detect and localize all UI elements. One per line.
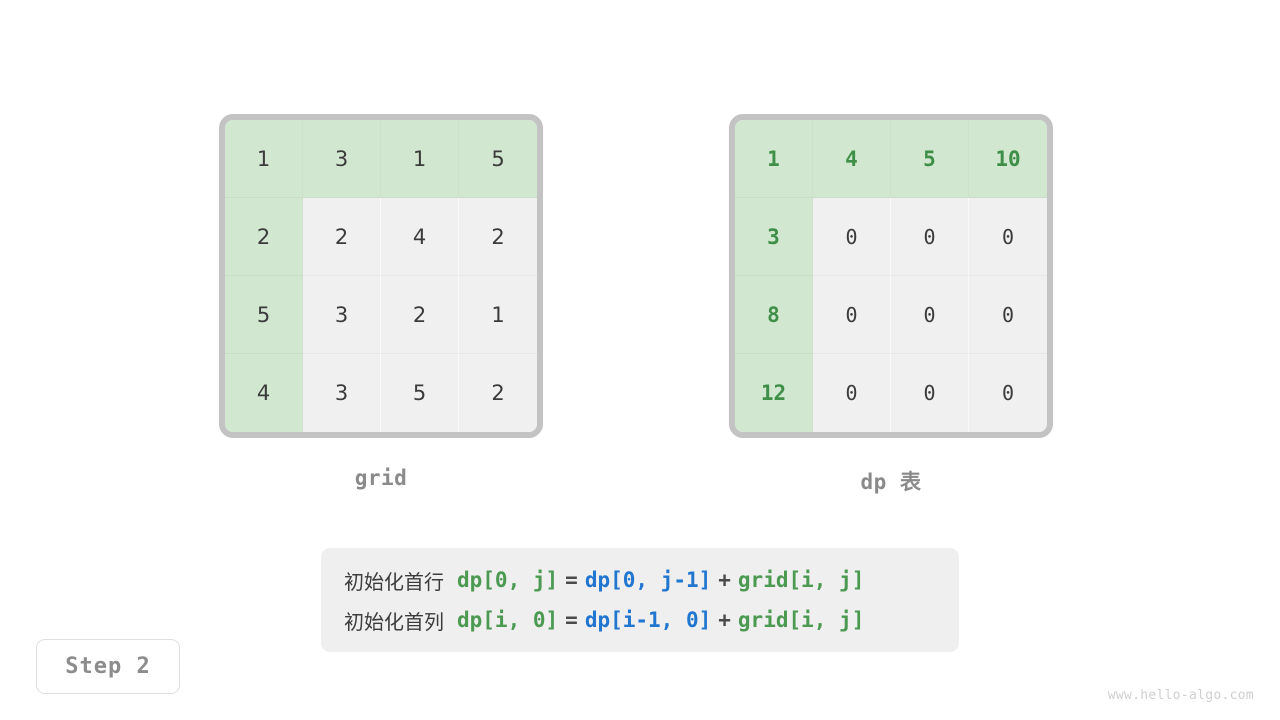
table-row: 1 3 1 5 xyxy=(225,120,537,198)
formula-label-first-column: 初始化首列 xyxy=(344,606,444,635)
table-row: 2 2 4 2 xyxy=(225,198,537,276)
formula-equals-first-row: = xyxy=(565,568,578,592)
dp-cell-3-0: 12 xyxy=(735,354,813,432)
table-row: 8 0 0 0 xyxy=(735,276,1047,354)
table-row: 1 4 5 10 xyxy=(735,120,1047,198)
dp-cell-0-2: 5 xyxy=(891,120,969,198)
formula-rhs2-first-row: grid[i, j] xyxy=(738,568,864,592)
dp-cell-3-3: 0 xyxy=(969,354,1047,432)
dp-cell-2-3: 0 xyxy=(969,276,1047,354)
dp-cell-1-2: 0 xyxy=(891,198,969,276)
formula-lhs-first-row: dp[0, j] xyxy=(457,568,558,592)
grid-cell-3-1: 3 xyxy=(303,354,381,432)
formula-rhs1-first-column: dp[i-1, 0] xyxy=(585,608,711,632)
grid-table: 1 3 1 5 2 2 4 2 5 3 2 1 4 3 5 2 xyxy=(219,114,543,438)
grid-cell-1-0: 2 xyxy=(225,198,303,276)
dp-cell-3-2: 0 xyxy=(891,354,969,432)
formula-plus-first-column: + xyxy=(718,608,731,632)
grid-caption: grid xyxy=(219,466,543,490)
dp-cell-0-3: 10 xyxy=(969,120,1047,198)
grid-cell-0-1: 3 xyxy=(303,120,381,198)
formula-line-first-column: 初始化首列 dp[i, 0] = dp[i-1, 0] + grid[i, j] xyxy=(321,600,959,640)
grid-cell-1-2: 4 xyxy=(381,198,459,276)
dp-cell-2-0: 8 xyxy=(735,276,813,354)
table-row: 12 0 0 0 xyxy=(735,354,1047,432)
table-row: 4 3 5 2 xyxy=(225,354,537,432)
grid-cell-1-1: 2 xyxy=(303,198,381,276)
table-row: 3 0 0 0 xyxy=(735,198,1047,276)
dp-cell-1-0: 3 xyxy=(735,198,813,276)
dp-cell-0-0: 1 xyxy=(735,120,813,198)
watermark: www.hello-algo.com xyxy=(1108,688,1254,703)
dp-cell-0-1: 4 xyxy=(813,120,891,198)
formula-box: 初始化首行 dp[0, j] = dp[0, j-1] + grid[i, j]… xyxy=(321,548,959,652)
table-row: 5 3 2 1 xyxy=(225,276,537,354)
dp-caption: dp 表 xyxy=(729,466,1053,496)
grid-cell-3-3: 2 xyxy=(459,354,537,432)
grid-cell-2-3: 1 xyxy=(459,276,537,354)
grid-cell-0-0: 1 xyxy=(225,120,303,198)
formula-lhs-first-column: dp[i, 0] xyxy=(457,608,558,632)
formula-label-first-row: 初始化首行 xyxy=(344,566,444,595)
dp-table: 1 4 5 10 3 0 0 0 8 0 0 0 12 0 0 0 xyxy=(729,114,1053,438)
grid-matrix: 1 3 1 5 2 2 4 2 5 3 2 1 4 3 5 2 xyxy=(219,114,543,438)
grid-cell-0-3: 5 xyxy=(459,120,537,198)
formula-rhs1-first-row: dp[0, j-1] xyxy=(585,568,711,592)
grid-cell-2-1: 3 xyxy=(303,276,381,354)
grid-cell-2-2: 2 xyxy=(381,276,459,354)
grid-cell-1-3: 2 xyxy=(459,198,537,276)
grid-cell-0-2: 1 xyxy=(381,120,459,198)
formula-line-first-row: 初始化首行 dp[0, j] = dp[0, j-1] + grid[i, j] xyxy=(321,560,959,600)
dp-cell-3-1: 0 xyxy=(813,354,891,432)
grid-cell-3-2: 5 xyxy=(381,354,459,432)
step-badge: Step 2 xyxy=(36,639,180,694)
formula-equals-first-column: = xyxy=(565,608,578,632)
formula-plus-first-row: + xyxy=(718,568,731,592)
dp-cell-1-1: 0 xyxy=(813,198,891,276)
dp-cell-2-2: 0 xyxy=(891,276,969,354)
grid-cell-3-0: 4 xyxy=(225,354,303,432)
dp-cell-1-3: 0 xyxy=(969,198,1047,276)
formula-rhs2-first-column: grid[i, j] xyxy=(738,608,864,632)
tables-area: 1 3 1 5 2 2 4 2 5 3 2 1 4 3 5 2 xyxy=(0,0,1280,520)
dp-matrix: 1 4 5 10 3 0 0 0 8 0 0 0 12 0 0 0 xyxy=(729,114,1053,438)
grid-cell-2-0: 5 xyxy=(225,276,303,354)
dp-cell-2-1: 0 xyxy=(813,276,891,354)
